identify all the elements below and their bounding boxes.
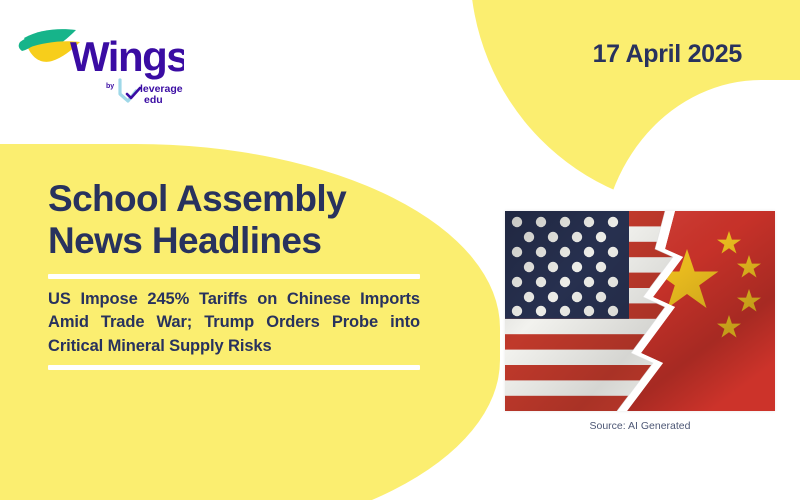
headline-block: School Assembly News Headlines US Impose… [48,178,420,370]
edu-word: edu [144,94,163,106]
leverage-edu-check-icon [120,80,140,101]
wings-logo[interactable]: Wings by leverage edu [14,18,184,108]
news-subtitle: US Impose 245% Tariffs on Chinese Import… [48,288,420,359]
divider-top [48,274,420,279]
news-headline-card: Wings by leverage edu 17 April 2025 Scho… [0,0,800,500]
divider-bottom [48,365,420,370]
date-label: 17 April 2025 [593,40,742,69]
wings-wordmark: Wings [70,33,184,80]
page-title: School Assembly News Headlines [48,178,420,262]
us-china-flags-image [505,211,775,411]
image-source-caption: Source: AI Generated [505,420,775,432]
by-label: by [106,83,114,90]
